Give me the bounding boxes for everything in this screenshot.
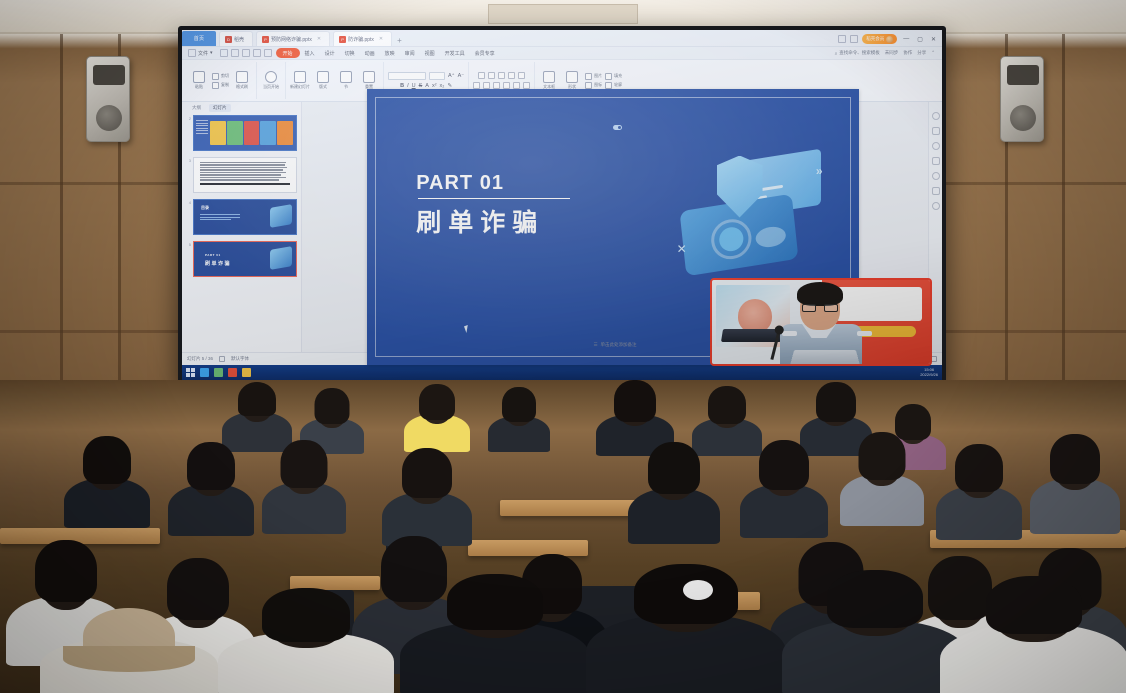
ribbon-tab-devtools[interactable]: 开发工具 — [440, 49, 470, 58]
notes-placeholder-label: 单击此处添加备注 — [601, 342, 637, 348]
shape-button[interactable]: 形状 — [562, 71, 582, 90]
clock-date: 2022/9/26 — [920, 373, 938, 378]
audience-person — [936, 442, 1022, 540]
person-hair — [502, 387, 536, 422]
start-from-current-button[interactable]: 当页开始 — [261, 71, 281, 90]
outline-icon — [605, 82, 612, 89]
file-icon — [188, 49, 196, 57]
person-hair — [827, 570, 923, 628]
audience-person — [940, 590, 1126, 693]
tab-label: 防诈骗.pptx — [348, 36, 374, 43]
wall-seam — [1062, 34, 1065, 414]
fill-label: 填充 — [614, 73, 622, 79]
fingerprint-icon — [754, 224, 786, 248]
icon-library-icon — [585, 82, 592, 89]
new-slide-label: 新建幻灯片 — [290, 84, 310, 90]
fill-icon — [605, 73, 612, 80]
thumbnail-text-lines — [196, 120, 208, 136]
officer-hair — [797, 282, 843, 306]
increase-font-icon[interactable]: A⁺ — [448, 73, 455, 79]
slide-thumbnail-5-selected[interactable]: PART 01 刷单诈骗 — [193, 241, 297, 277]
wall-seam — [60, 34, 63, 414]
slide-divider — [418, 198, 570, 200]
paste-label: 粘贴 — [195, 84, 203, 90]
person-hair — [648, 442, 700, 494]
cut-label: 剪切 — [221, 73, 229, 79]
docer-icon: D — [225, 36, 232, 43]
police-officer-figure — [772, 286, 882, 364]
pane-tab-slides[interactable]: 幻灯片 — [209, 104, 231, 112]
vip-badge[interactable]: 稻壳会员 — [862, 34, 897, 44]
paste-icon — [193, 71, 205, 83]
undo-icon[interactable] — [253, 49, 261, 57]
notes-placeholder[interactable]: ☰ 单击此处添加备注 — [593, 342, 636, 348]
wall-speaker — [1000, 56, 1044, 142]
document-tab-docer[interactable]: D 稻壳 — [219, 31, 253, 46]
section-button[interactable]: 节 — [336, 71, 356, 90]
start-current-label: 当页开始 — [263, 84, 279, 90]
reset-button[interactable]: 重置 — [359, 71, 379, 90]
epaulet — [857, 331, 872, 336]
audience-person — [404, 382, 470, 452]
thumbnail-list: 2 — [182, 114, 301, 352]
thumbnail-preview — [194, 158, 296, 192]
list-item[interactable]: 5 PART 01 刷单诈骗 — [186, 241, 297, 277]
favorites-icon[interactable] — [932, 142, 940, 150]
ppt-file-icon: P — [262, 36, 269, 43]
minimize-button[interactable]: — — [901, 36, 911, 42]
paste-button[interactable]: 粘贴 — [189, 71, 209, 90]
person-hair — [1050, 434, 1100, 484]
hat-brim — [63, 646, 195, 672]
person-hair — [402, 448, 452, 498]
collapse-ribbon-icon[interactable]: ⌃ — [931, 50, 935, 56]
outline-button[interactable]: 轮廓 — [605, 82, 622, 89]
person-hair — [708, 386, 746, 424]
picture-label: 图片 — [594, 73, 602, 79]
wps-office-window[interactable]: 首页 D 稻壳 P 预防网络诈骗.pptx ✕ P 防诈骗.pptx ✕ + — [182, 30, 942, 380]
font-size-input[interactable] — [429, 72, 445, 80]
list-item[interactable]: 2 — [186, 115, 297, 151]
ribbon-tab-review[interactable]: 审阅 — [400, 49, 420, 58]
audience-area — [0, 380, 1126, 693]
paragraph-row-top — [478, 72, 525, 79]
font-row-top: A⁺ A⁻ — [388, 72, 464, 80]
audience-person — [262, 438, 346, 534]
search-command-box[interactable]: ⌕ 查找命令、搜索模板 — [835, 50, 880, 56]
ribbon-group-clipboard: 粘贴 剪切 复制 格式刷 — [185, 62, 257, 99]
chevron-right-icon: » — [816, 164, 823, 178]
taskbar-app-icon[interactable] — [214, 368, 223, 377]
outline-label: 轮廓 — [614, 82, 622, 88]
person-hair — [955, 444, 1003, 492]
audience-person — [400, 588, 590, 693]
icon-library-button[interactable]: 图标 — [585, 82, 602, 89]
font-name-input[interactable] — [388, 72, 426, 80]
thumbnail-number: 5 — [186, 241, 191, 247]
taskbar-app-icon[interactable] — [242, 368, 251, 377]
section-label: 节 — [344, 84, 348, 90]
copy-icon — [212, 82, 219, 89]
windows-taskbar[interactable]: 15:06 2022/9/26 — [182, 365, 942, 380]
file-menu-button[interactable]: 文件 ▾ — [185, 49, 216, 57]
close-tab-icon[interactable]: ✕ — [379, 36, 383, 42]
audience-person — [218, 604, 394, 693]
quick-access-toolbar[interactable] — [216, 49, 276, 57]
person-hair — [315, 388, 350, 424]
increase-indent-icon[interactable] — [508, 72, 515, 79]
chevron-down-icon: ▾ — [210, 50, 213, 56]
ribbon-tab-member[interactable]: 会员专享 — [470, 49, 500, 58]
tab-label: 稻壳 — [234, 36, 244, 43]
comments-icon[interactable] — [932, 172, 940, 180]
audience-person — [168, 440, 254, 536]
redo-icon[interactable] — [264, 49, 272, 57]
media-library-icon[interactable] — [932, 157, 940, 165]
hair-clip-icon — [683, 580, 713, 600]
format-pane-icon[interactable] — [932, 127, 940, 135]
avatar[interactable] — [886, 36, 893, 43]
title-bar: 首页 D 稻壳 P 预防网络诈骗.pptx ✕ P 防诈骗.pptx ✕ + — [182, 30, 942, 47]
person-hair — [187, 442, 235, 490]
ribbon-tab-start[interactable]: 开始 — [276, 48, 300, 58]
thumbnail-cover-strip — [210, 121, 293, 145]
templates-icon[interactable] — [932, 187, 940, 195]
ribbon-tab-view[interactable]: 视图 — [420, 49, 440, 58]
print-preview-icon[interactable] — [242, 49, 250, 57]
ceiling-vent — [488, 4, 638, 24]
slide-thumbnail-4[interactable]: 目录 — [193, 199, 297, 235]
copy-label: 复制 — [221, 82, 229, 88]
person-hair — [35, 540, 97, 602]
thumbnail-part-label: PART 01 — [205, 253, 221, 257]
thumbnail-preview — [194, 116, 296, 150]
shape-icon — [566, 71, 578, 83]
copy-button[interactable]: 复制 — [212, 82, 229, 89]
cut-button[interactable]: 剪切 — [212, 73, 229, 80]
grid-toggle-icon[interactable] — [850, 35, 858, 43]
ribbon-tab-slideshow[interactable]: 放映 — [380, 49, 400, 58]
share-button[interactable]: 分享 — [917, 50, 926, 56]
format-painter-button[interactable]: 格式刷 — [232, 71, 252, 90]
person-hair — [262, 588, 350, 642]
picture-button[interactable]: 图片 — [585, 73, 602, 80]
textbox-icon — [543, 71, 555, 83]
slide-thumbnail-2[interactable] — [193, 115, 297, 151]
glasses-icon — [802, 304, 838, 312]
thumbnail-number: 3 — [186, 157, 191, 163]
sparkle-icon: ✕ — [677, 242, 687, 256]
person-hair — [816, 382, 856, 422]
thumbnail-number: 2 — [186, 115, 191, 121]
audience-person — [40, 612, 218, 693]
person-hair — [419, 384, 455, 420]
new-slide-icon — [294, 71, 306, 83]
lecture-hall-photo: 首页 D 稻壳 P 预防网络诈骗.pptx ✕ P 防诈骗.pptx ✕ + — [0, 0, 1126, 693]
reset-icon — [363, 71, 375, 83]
icon-library-label: 图标 — [594, 82, 602, 88]
pane-tab-outline[interactable]: 大纲 — [188, 104, 205, 112]
audience-person — [1030, 434, 1120, 534]
layout-label: 版式 — [319, 84, 327, 90]
slide-part-label: PART 01 — [416, 172, 570, 195]
person-hair — [281, 440, 328, 488]
close-tab-icon[interactable]: ✕ — [317, 36, 321, 42]
thumbnail-text-lines — [200, 214, 240, 222]
person-hair — [614, 380, 656, 422]
audience-person — [628, 442, 720, 544]
thumbnail-title: 刷单诈骗 — [205, 260, 231, 267]
search-icon: ⌕ — [835, 51, 838, 56]
numbered-list-icon[interactable] — [488, 72, 495, 79]
thumbnail-banner — [200, 183, 290, 186]
taskbar-app-icon[interactable] — [200, 368, 209, 377]
layout-button[interactable]: 版式 — [313, 71, 333, 90]
audience-person — [488, 384, 550, 452]
ribbon-group-slideshow: 当页开始 — [257, 62, 286, 99]
taskbar-clock[interactable]: 15:06 2022/9/26 — [920, 368, 938, 377]
document-tab-2-active[interactable]: P 防诈骗.pptx ✕ — [333, 31, 392, 46]
save-icon[interactable] — [220, 49, 228, 57]
live-camera-overlay[interactable] — [710, 278, 932, 366]
line-spacing-icon[interactable] — [518, 72, 525, 79]
maximize-button[interactable]: ▢ — [915, 36, 925, 43]
search-placeholder: 查找命令、搜索模板 — [839, 50, 880, 56]
wps-home-tab[interactable]: 首页 — [182, 31, 216, 46]
file-menu-label: 文件 — [198, 50, 208, 57]
thumbnail-illustration — [270, 204, 292, 228]
person-hair — [859, 432, 906, 480]
textbox-button[interactable]: 文本框 — [539, 71, 559, 90]
decrease-font-icon[interactable]: A⁻ — [458, 73, 465, 79]
design-ideas-icon[interactable] — [932, 112, 940, 120]
title-bar-right: 稻壳会员 — ▢ ✕ — [838, 34, 942, 46]
vip-badge-label: 稻壳会员 — [866, 36, 884, 42]
audience-person — [586, 576, 786, 693]
person-hair — [238, 382, 276, 416]
document-tab-1[interactable]: P 预防网络诈骗.pptx ✕ — [256, 31, 330, 46]
cut-icon — [212, 73, 219, 80]
ribbon-tab-insert[interactable]: 插入 — [300, 49, 320, 58]
audience-person — [382, 446, 472, 546]
person-hair — [83, 436, 131, 484]
person-hair — [447, 574, 543, 630]
font-icon — [219, 356, 225, 362]
thumbnail-title: 目录 — [201, 205, 209, 211]
notes-icon: ☰ — [593, 342, 597, 348]
format-painter-label: 格式刷 — [236, 84, 248, 90]
list-item[interactable]: 4 目录 — [186, 199, 297, 235]
shield-credit-card-phone-icon: » ✕ — [673, 150, 825, 268]
format-painter-icon — [236, 71, 248, 83]
hand-image — [738, 299, 772, 333]
laptop — [790, 350, 861, 366]
play-icon — [265, 71, 277, 83]
collaborate-button[interactable]: 协作 — [903, 50, 912, 56]
projection-screen: 首页 D 稻壳 P 预防网络诈骗.pptx ✕ P 防诈骗.pptx ✕ + — [178, 26, 946, 384]
taskbar-app-icon[interactable] — [228, 368, 237, 377]
new-tab-button[interactable]: + — [397, 36, 402, 45]
thumbnail-preview: PART 01 刷单诈骗 — [194, 242, 296, 276]
slide-thumbnail-3[interactable] — [193, 157, 297, 193]
decorative-dot-icon — [613, 125, 622, 130]
page-title: 刷单诈骗 — [416, 203, 570, 239]
ribbon-tab-design[interactable]: 设计 — [320, 49, 340, 58]
new-slide-button[interactable]: 新建幻灯片 — [290, 71, 310, 90]
epaulet — [782, 331, 797, 336]
slide-counter: 幻灯片 5 / 36 — [187, 356, 213, 362]
thumbnail-text-lines — [200, 162, 290, 181]
ribbon-right-actions: ⌕ 查找命令、搜索模板 未同步 协作 分享 ⌃ — [835, 50, 939, 56]
fill-button[interactable]: 填充 — [605, 73, 622, 80]
font-indicator-label: 默认字体 — [231, 356, 249, 362]
pane-tab-row: 大纲 幻灯片 — [182, 102, 301, 114]
audience-person — [64, 434, 150, 528]
slide-thumbnail-pane[interactable]: 大纲 幻灯片 2 — [182, 102, 302, 352]
list-item[interactable]: 3 — [186, 157, 297, 193]
section-icon — [340, 71, 352, 83]
picture-icon — [585, 73, 592, 80]
person-hair — [759, 440, 809, 490]
ribbon-tab-transition[interactable]: 切换 — [340, 49, 360, 58]
layout-icon — [317, 71, 329, 83]
ribbon-tab-strip: 文件 ▾ 开始 插入 设计 切换 动画 放映 审阅 视图 开发工具 — [182, 47, 942, 60]
thumbnail-preview: 目录 — [194, 200, 296, 234]
thumbnail-number: 4 — [186, 199, 191, 205]
help-icon[interactable] — [932, 202, 940, 210]
audience-person — [740, 438, 828, 538]
print-icon[interactable] — [231, 49, 239, 57]
close-button[interactable]: ✕ — [929, 36, 938, 43]
person-hair — [986, 576, 1082, 634]
ppt-file-icon: P — [339, 36, 346, 43]
start-button-icon[interactable] — [186, 368, 195, 377]
slide-text-block[interactable]: PART 01 刷单诈骗 — [416, 172, 570, 240]
bullet-list-icon[interactable] — [478, 72, 485, 79]
tab-label: 预防网络诈骗.pptx — [271, 36, 312, 43]
decrease-indent-icon[interactable] — [498, 72, 505, 79]
thumbnail-illustration — [270, 246, 292, 270]
sync-status-button[interactable]: 未同步 — [885, 50, 899, 56]
ribbon-tab-animation[interactable]: 动画 — [360, 49, 380, 58]
layout-toggle-icon[interactable] — [838, 35, 846, 43]
audience-person — [840, 430, 924, 526]
font-indicator — [219, 356, 225, 363]
wall-speaker — [86, 56, 130, 142]
